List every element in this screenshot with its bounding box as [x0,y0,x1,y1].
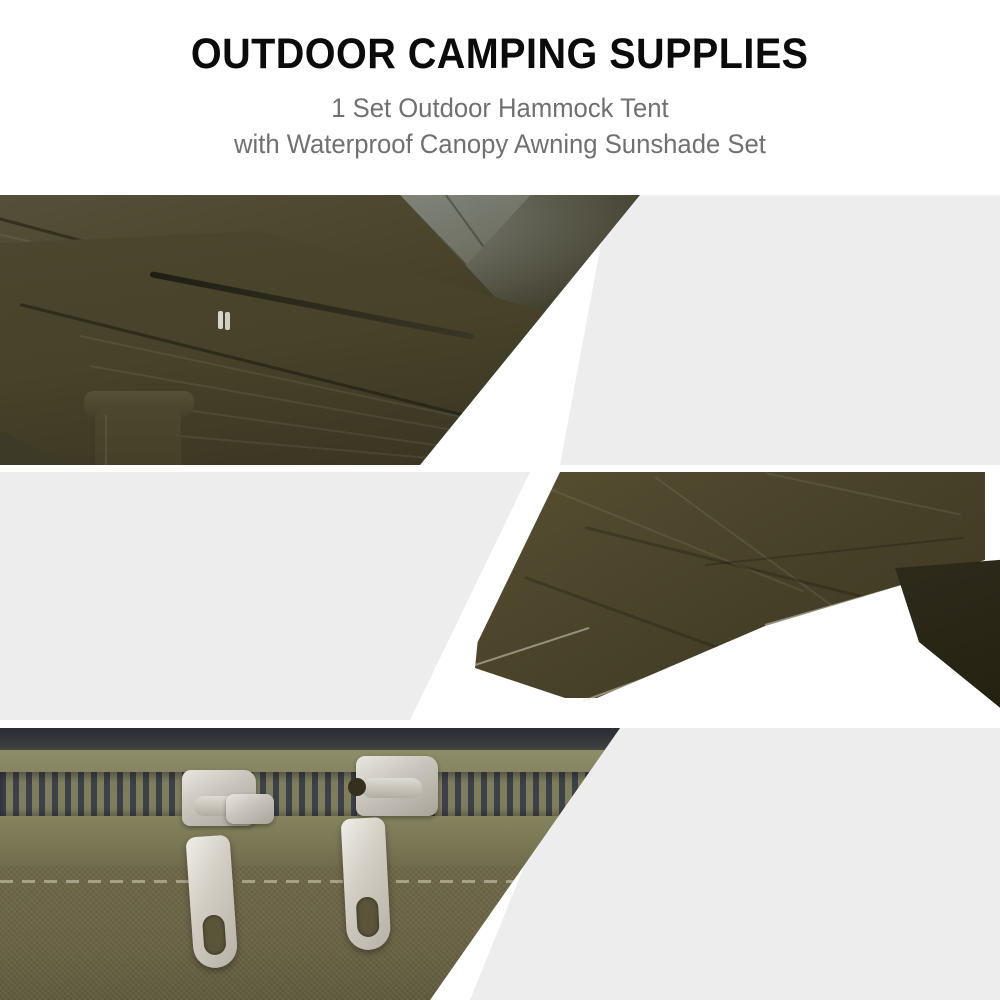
subtitle-line-1: 1 Set Outdoor Hammock Tent [234,91,766,127]
zipper-teeth [0,772,620,818]
header: OUTDOOR CAMPING SUPPLIES 1 Set Outdoor H… [0,0,1000,195]
feature-2-photo [440,472,1000,720]
page-title: OUTDOOR CAMPING SUPPLIES [191,32,809,77]
hammock-storage-pocket [95,407,181,465]
hammock-tent-image [0,195,640,465]
tarp-side-panel [895,558,1000,720]
infographic-page: OUTDOOR CAMPING SUPPLIES 1 Set Outdoor H… [0,0,1000,1000]
subtitle-line-2: with Waterproof Canopy Awning Sunshade S… [234,127,766,163]
feature-section-1: 1 ADOPTION OF PREMIUM NYLON MATERIAL [0,195,1000,465]
feature-1-photo [0,195,640,465]
feature-1-text-panel [560,195,1000,465]
hammock-zipper-pull-icon [218,311,223,329]
feature-section-3: 3 WATERPROOF DESIGN SUITABLE FOR OUTDOOR… [0,728,1000,1000]
page-subtitle: 1 Set Outdoor Hammock Tent with Waterpro… [234,91,766,162]
feature-2-text-panel [0,472,530,720]
feature-section-2: 2 DURABLE AND PRACTICAL FOR LONG LASTING… [0,472,1000,720]
tarp-canopy-image [440,472,1000,720]
